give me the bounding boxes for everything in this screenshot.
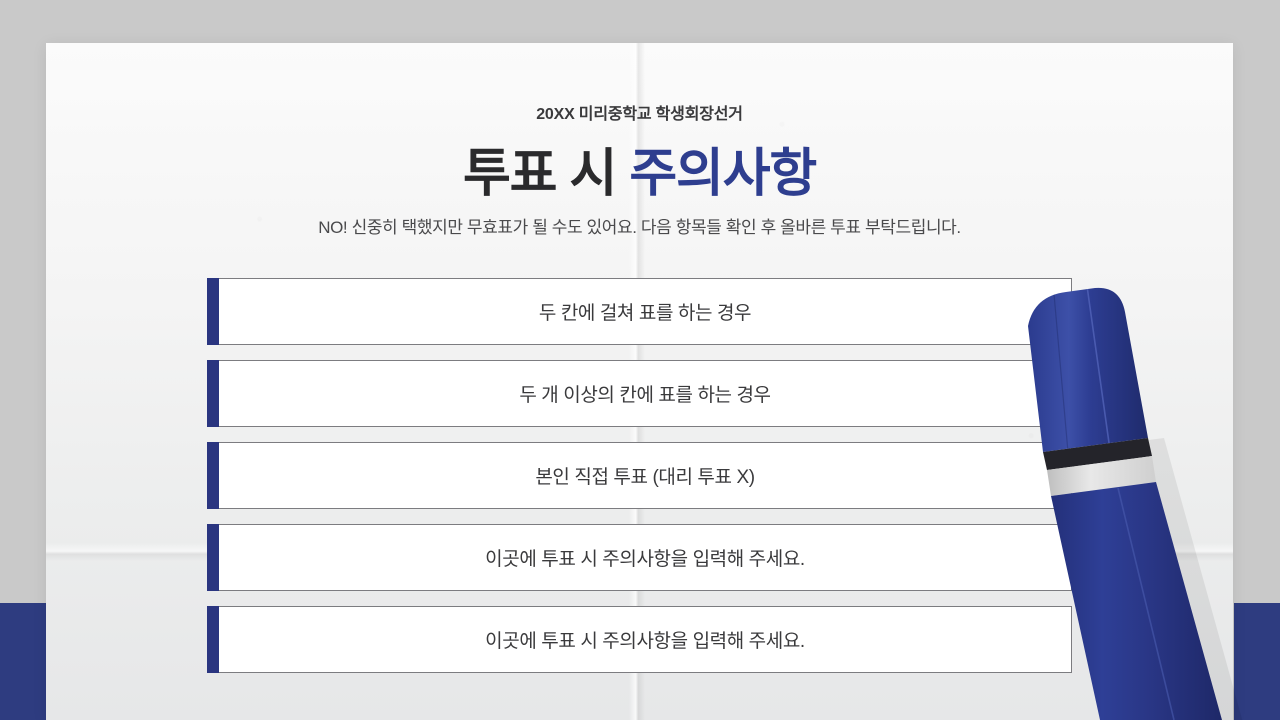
notice-accent-bar [207,278,219,345]
notice-accent-bar [207,360,219,427]
list-item[interactable]: 이곳에 투표 시 주의사항을 입력해 주세요. [207,606,1072,673]
notice-text: 두 칸에 걸쳐 표를 하는 경우 [219,278,1072,345]
notice-text: 이곳에 투표 시 주의사항을 입력해 주세요. [219,606,1072,673]
list-item[interactable]: 두 칸에 걸쳐 표를 하는 경우 [207,278,1072,345]
notice-text: 이곳에 투표 시 주의사항을 입력해 주세요. [219,524,1072,591]
corner-accent-left [0,603,46,720]
page-title: 투표 시 주의사항 [46,131,1233,206]
notice-list: 두 칸에 걸쳐 표를 하는 경우 두 개 이상의 칸에 표를 하는 경우 본인 … [207,278,1072,673]
notice-accent-bar [207,524,219,591]
list-item[interactable]: 본인 직접 투표 (대리 투표 X) [207,442,1072,509]
list-item[interactable]: 이곳에 투표 시 주의사항을 입력해 주세요. [207,524,1072,591]
presentation-slide: 20XX 미리중학교 학생회장선거 투표 시 주의사항 NO! 신중히 택했지만… [0,0,1280,720]
paper-sheet: 20XX 미리중학교 학생회장선거 투표 시 주의사항 NO! 신중히 택했지만… [46,43,1233,720]
page-title-plain: 투표 시 [463,145,629,203]
notice-text: 두 개 이상의 칸에 표를 하는 경우 [219,360,1072,427]
page-title-accent: 주의사항 [629,145,816,203]
notice-text: 본인 직접 투표 (대리 투표 X) [219,442,1072,509]
notice-accent-bar [207,442,219,509]
slide-eyebrow: 20XX 미리중학교 학생회장선거 [46,100,1233,124]
slide-subtitle: NO! 신중히 택했지만 무효표가 될 수도 있어요. 다음 항목들 확인 후 … [46,213,1233,238]
corner-accent-right [1234,603,1280,720]
list-item[interactable]: 두 개 이상의 칸에 표를 하는 경우 [207,360,1072,427]
notice-accent-bar [207,606,219,673]
